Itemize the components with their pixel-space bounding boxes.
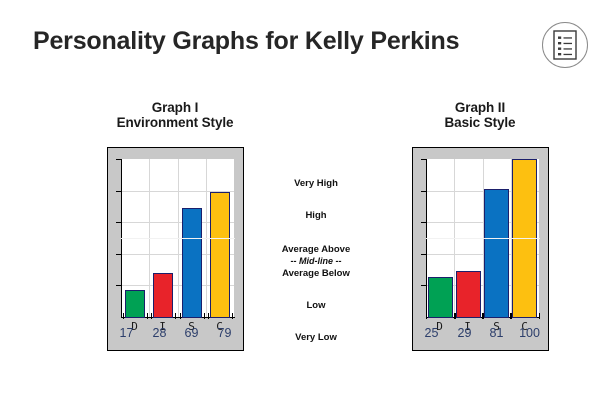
y-axis-tick <box>421 222 426 223</box>
baseline-tick <box>180 313 181 319</box>
baseline-tick <box>455 313 456 319</box>
y-axis-tick <box>116 159 121 160</box>
graph-2-panel: DISC <box>412 147 549 351</box>
document-list-icon-glyph <box>553 30 577 60</box>
graph-1-subtitle: Environment Style <box>75 115 275 130</box>
value-d: 17 <box>110 326 143 340</box>
scale-label-0: Very High <box>256 178 376 189</box>
scale-label-3: -- Mid-line -- <box>256 256 376 267</box>
baseline-tick <box>232 313 233 319</box>
document-list-icon[interactable] <box>542 22 588 68</box>
y-axis-tick <box>116 254 121 255</box>
scale-label-2: Average Above <box>256 244 376 255</box>
bar-i <box>153 273 173 318</box>
value-i: 29 <box>448 326 481 340</box>
baseline-tick <box>511 313 512 319</box>
graph-2-subtitle: Basic Style <box>380 115 580 130</box>
baseline-tick <box>483 313 484 319</box>
mid-line <box>426 238 540 239</box>
graph-1-value-row: 17286979 <box>110 326 240 344</box>
y-axis-tick <box>421 254 426 255</box>
scale-label-5: Low <box>256 300 376 311</box>
scale-label-4: Average Below <box>256 268 376 279</box>
y-axis-tick <box>116 222 121 223</box>
bar-i <box>456 271 481 318</box>
baseline-tick <box>175 313 176 319</box>
graph-1-heading: Graph I Environment Style <box>75 100 275 130</box>
bar-s <box>484 189 509 318</box>
baseline-tick <box>204 313 205 319</box>
scale-label-1: High <box>256 210 376 221</box>
baseline-tick <box>454 313 455 319</box>
graph-2-value-row: 252981100 <box>415 326 545 344</box>
y-axis-tick <box>116 285 121 286</box>
value-i: 28 <box>143 326 176 340</box>
baseline-tick <box>510 313 511 319</box>
y-axis-tick <box>421 191 426 192</box>
value-c: 100 <box>513 326 546 340</box>
baseline-tick <box>208 313 209 319</box>
y-axis-tick <box>421 159 426 160</box>
bar-c <box>210 192 230 318</box>
page-header: Personality Graphs for Kelly Perkins <box>0 0 612 86</box>
y-axis-tick <box>421 285 426 286</box>
baseline-tick <box>482 313 483 319</box>
graph-1-panel: DISC <box>107 147 244 351</box>
bar-d <box>428 277 453 318</box>
value-s: 69 <box>175 326 208 340</box>
value-d: 25 <box>415 326 448 340</box>
page-title: Personality Graphs for Kelly Perkins <box>33 27 459 56</box>
graph-2-heading: Graph II Basic Style <box>380 100 580 130</box>
value-c: 79 <box>208 326 241 340</box>
graph-1-title: Graph I <box>75 100 275 115</box>
baseline-tick <box>539 313 540 319</box>
baseline-tick <box>426 313 427 319</box>
graph-1-block: Graph I Environment Style DISC 17286979 <box>75 100 275 351</box>
baseline-tick <box>151 313 152 319</box>
y-axis-tick <box>116 191 121 192</box>
value-s: 81 <box>480 326 513 340</box>
baseline-tick <box>147 313 148 319</box>
bar-d <box>125 290 145 318</box>
graph-2-title: Graph II <box>380 100 580 115</box>
graph-2-block: Graph II Basic Style DISC 252981100 <box>380 100 580 351</box>
scale-label-6: Very Low <box>256 332 376 343</box>
mid-line <box>121 238 235 239</box>
baseline-tick <box>123 313 124 319</box>
bar-s <box>182 208 202 318</box>
